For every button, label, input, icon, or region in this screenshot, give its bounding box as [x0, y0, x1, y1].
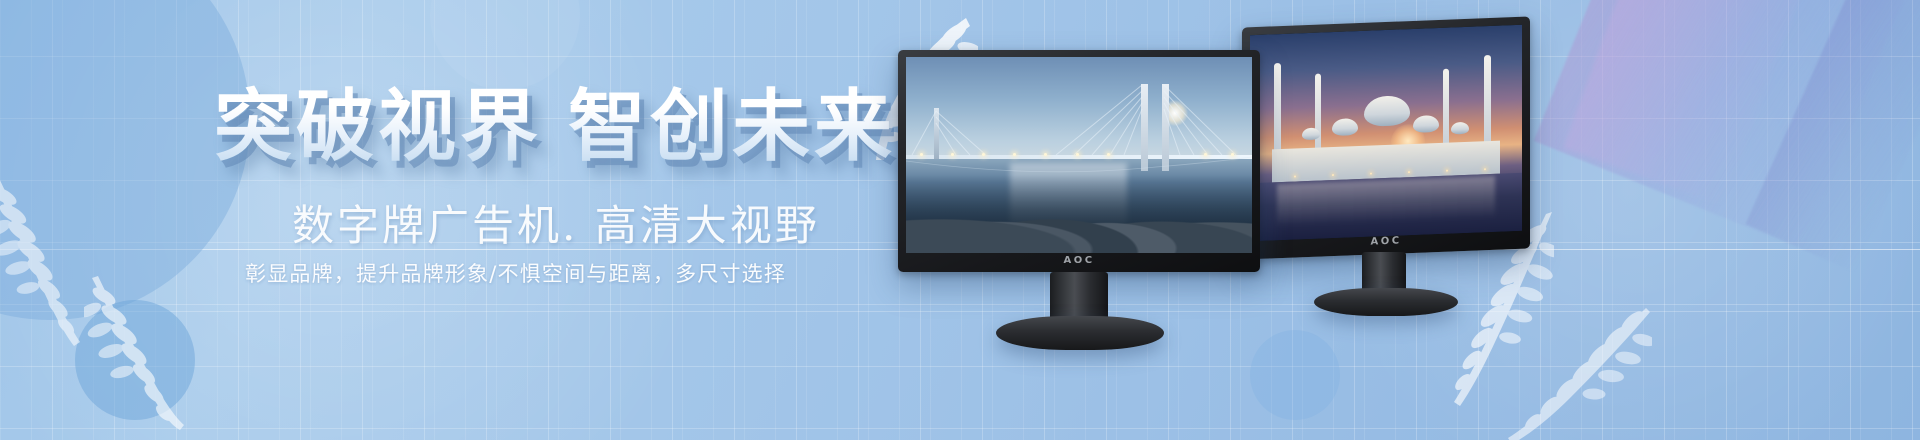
- minaret: [1443, 69, 1449, 147]
- side-dome: [1413, 114, 1439, 132]
- monitor-left-brand-logo: AOC: [898, 255, 1260, 266]
- monitor-left-stand-base: [996, 316, 1164, 350]
- bridge-lamp: [1204, 153, 1207, 156]
- facade-light: [1408, 171, 1410, 173]
- bridge-lamp: [1076, 153, 1079, 156]
- mosque-reflection-shine: [1277, 176, 1495, 226]
- headline-part-2: 智创未来: [568, 82, 896, 172]
- facade-light: [1294, 176, 1296, 178]
- monitor-left-screen: [906, 57, 1252, 253]
- banner-subtitle: 数字牌广告机. 高清大视野: [292, 192, 820, 253]
- headline-part-1: 突破视界: [214, 82, 542, 172]
- banner-text-block: 突破视界智创未来 数字牌广告机. 高清大视野 彰显品牌，提升品牌形象/不惧空间与…: [0, 0, 900, 440]
- minaret: [1484, 55, 1491, 146]
- monitor-right-stand-base: [1314, 288, 1458, 316]
- minaret: [1315, 74, 1321, 152]
- bridge-lamp: [1107, 153, 1110, 156]
- bridge-lamp: [920, 153, 923, 156]
- banner-headline: 突破视界智创未来: [214, 64, 896, 176]
- minaret: [1274, 63, 1281, 154]
- promo-banner: 突破视界智创未来 数字牌广告机. 高清大视野 彰显品牌，提升品牌形象/不惧空间与…: [0, 0, 1920, 440]
- side-dome: [1302, 127, 1320, 140]
- product-monitors-group: AOC: [880, 0, 1920, 440]
- facade-light: [1370, 173, 1372, 175]
- facade-light: [1332, 174, 1334, 176]
- bridge-lamp: [951, 153, 954, 156]
- banner-tagline: 彰显品牌，提升品牌形象/不惧空间与距离，多尺寸选择: [245, 258, 786, 288]
- side-dome: [1451, 122, 1469, 135]
- shoreline-rocks: [906, 175, 1252, 253]
- monitor-right-screen: [1250, 25, 1522, 241]
